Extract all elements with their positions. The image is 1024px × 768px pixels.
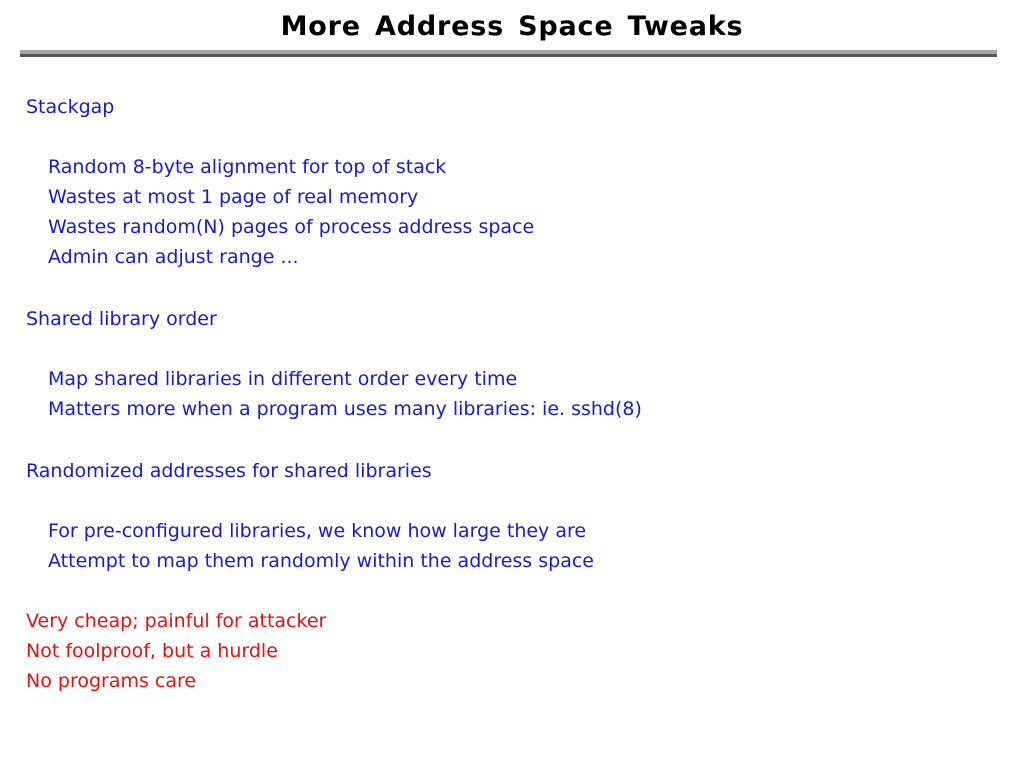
list-item: Wastes random(N) pages of process addres… xyxy=(0,212,1024,242)
list-item: For pre-configured libraries, we know ho… xyxy=(0,516,1024,546)
section-heading: Randomized addresses for shared librarie… xyxy=(0,456,1024,486)
list-item: Attempt to map them randomly within the … xyxy=(0,546,1024,576)
slide-body: Stackgap Random 8-byte alignment for top… xyxy=(0,92,1024,712)
conclusion-item: No programs care xyxy=(0,666,1024,696)
list-item: Wastes at most 1 page of real memory xyxy=(0,182,1024,212)
conclusion-list: Very cheap; painful for attacker Not foo… xyxy=(0,606,1024,696)
section-shared-library-order: Shared library order Map shared librarie… xyxy=(0,304,1024,424)
slide-canvas: More Address Space Tweaks Stackgap Rando… xyxy=(0,0,1024,768)
section-heading: Stackgap xyxy=(0,92,1024,122)
list-item: Matters more when a program uses many li… xyxy=(0,394,1024,424)
bullet-list: Map shared libraries in different order … xyxy=(0,364,1024,424)
list-item: Map shared libraries in different order … xyxy=(0,364,1024,394)
bullet-list: For pre-configured libraries, we know ho… xyxy=(0,516,1024,576)
page-title: More Address Space Tweaks xyxy=(0,12,1024,42)
list-item: Random 8-byte alignment for top of stack xyxy=(0,152,1024,182)
section-randomized-addresses: Randomized addresses for shared librarie… xyxy=(0,456,1024,576)
title-divider xyxy=(20,50,997,57)
section-heading: Shared library order xyxy=(0,304,1024,334)
bullet-list: Random 8-byte alignment for top of stack… xyxy=(0,152,1024,272)
divider-shadow xyxy=(20,54,997,57)
list-item: Admin can adjust range ... xyxy=(0,242,1024,272)
conclusion-item: Not foolproof, but a hurdle xyxy=(0,636,1024,666)
conclusion-item: Very cheap; painful for attacker xyxy=(0,606,1024,636)
section-stackgap: Stackgap Random 8-byte alignment for top… xyxy=(0,92,1024,272)
